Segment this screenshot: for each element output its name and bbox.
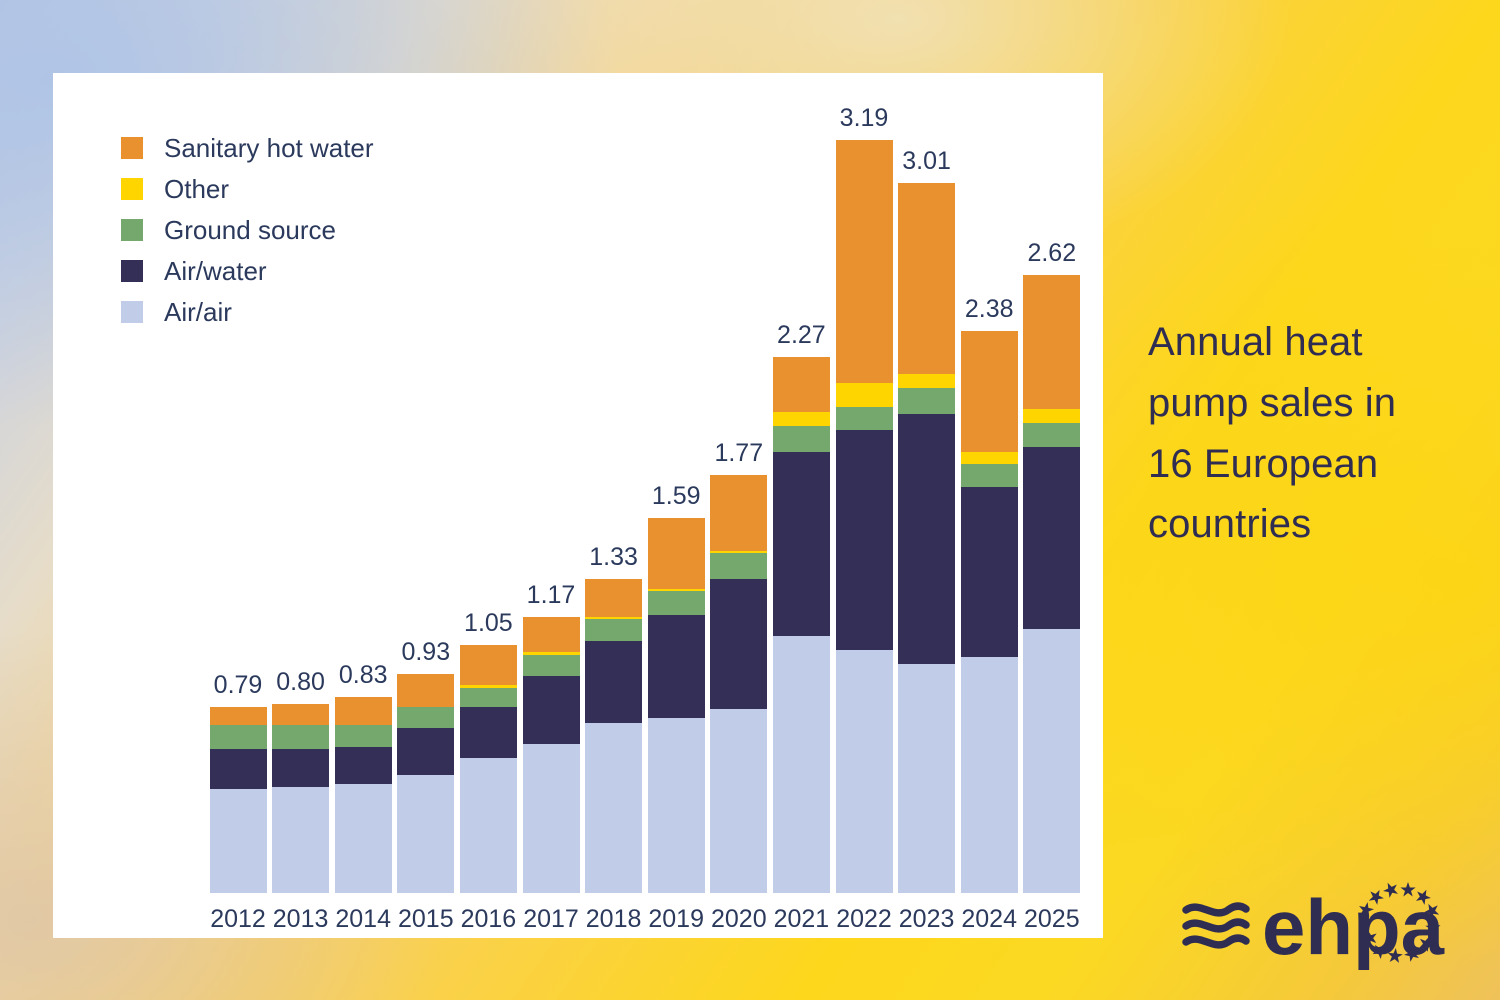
- legend-item-label: Air/water: [164, 258, 267, 284]
- x-axis-tick-2016: 2016: [461, 905, 517, 934]
- chart-card: 0.7920120.8020130.8320140.9320151.052016…: [53, 73, 1103, 938]
- bar-stack: [272, 704, 329, 893]
- bar-segment-air-air[interactable]: [585, 723, 642, 893]
- bar-stack: [710, 475, 767, 893]
- bar-column-2012[interactable]: 0.792012: [210, 707, 267, 893]
- legend-swatch-icon: [121, 301, 143, 323]
- bar-segment-ground-source[interactable]: [1023, 423, 1080, 447]
- bar-segment-sanitary-hot-water[interactable]: [898, 183, 955, 374]
- bar-segment-ground-source[interactable]: [648, 591, 705, 615]
- bar-segment-other[interactable]: [1023, 409, 1080, 423]
- bar-total-label: 1.05: [464, 609, 513, 638]
- bar-column-2019[interactable]: 1.592019: [648, 518, 705, 893]
- bar-stack: [961, 331, 1018, 893]
- x-axis-tick-2017: 2017: [523, 905, 579, 934]
- bar-segment-air-air[interactable]: [898, 664, 955, 893]
- bar-segment-air-air[interactable]: [397, 775, 454, 893]
- bar-segment-other[interactable]: [961, 452, 1018, 464]
- bar-segment-sanitary-hot-water[interactable]: [773, 357, 830, 411]
- bar-stack: [397, 674, 454, 893]
- bar-segment-air-air[interactable]: [710, 709, 767, 893]
- bar-segment-sanitary-hot-water[interactable]: [836, 140, 893, 383]
- bar-segment-air-water[interactable]: [1023, 447, 1080, 629]
- x-axis-tick-2018: 2018: [586, 905, 642, 934]
- x-axis-tick-2022: 2022: [836, 905, 892, 934]
- bar-total-label: 1.77: [714, 439, 763, 468]
- bar-column-2018[interactable]: 1.332018: [585, 579, 642, 893]
- x-axis-tick-2020: 2020: [711, 905, 767, 934]
- bar-total-label: 0.93: [401, 638, 450, 667]
- bar-stack: [773, 357, 830, 893]
- bar-segment-air-air[interactable]: [210, 789, 267, 893]
- bar-column-2020[interactable]: 1.772020: [710, 475, 767, 893]
- legend-item-sanitary-hot-water[interactable]: Sanitary hot water: [121, 127, 374, 168]
- bar-segment-air-water[interactable]: [272, 749, 329, 787]
- bar-segment-ground-source[interactable]: [523, 655, 580, 676]
- bar-column-2014[interactable]: 0.832014: [335, 697, 392, 893]
- bar-segment-sanitary-hot-water[interactable]: [648, 518, 705, 589]
- legend-swatch-icon: [121, 178, 143, 200]
- bar-segment-ground-source[interactable]: [773, 426, 830, 452]
- bar-segment-air-water[interactable]: [397, 728, 454, 775]
- logo-wordmark: ehpa: [1262, 883, 1445, 971]
- bar-total-label: 3.01: [902, 147, 951, 176]
- bar-segment-air-air[interactable]: [648, 718, 705, 893]
- bar-segment-ground-source[interactable]: [836, 407, 893, 431]
- bar-total-label: 1.17: [527, 581, 576, 610]
- bar-total-label: 3.19: [840, 104, 889, 133]
- bar-column-2022[interactable]: 3.192022: [836, 140, 893, 893]
- bar-column-2023[interactable]: 3.012023: [898, 183, 955, 893]
- bar-stack: [210, 707, 267, 893]
- bar-segment-air-air[interactable]: [272, 787, 329, 893]
- bar-column-2015[interactable]: 0.932015: [397, 674, 454, 893]
- x-axis-tick-2021: 2021: [774, 905, 830, 934]
- bar-stack: [335, 697, 392, 893]
- bar-segment-ground-source[interactable]: [961, 464, 1018, 488]
- chart-legend: Sanitary hot waterOtherGround sourceAir/…: [121, 127, 374, 332]
- bar-total-label: 2.38: [965, 295, 1014, 324]
- bar-column-2024[interactable]: 2.382024: [961, 331, 1018, 893]
- bar-total-label: 2.62: [1027, 239, 1076, 268]
- bar-segment-air-water[interactable]: [898, 414, 955, 664]
- bar-segment-sanitary-hot-water[interactable]: [272, 704, 329, 725]
- bar-segment-sanitary-hot-water[interactable]: [460, 645, 517, 685]
- bar-segment-air-air[interactable]: [773, 636, 830, 893]
- bar-total-label: 0.80: [276, 668, 325, 697]
- bar-segment-air-water[interactable]: [961, 487, 1018, 657]
- bar-segment-air-water[interactable]: [648, 615, 705, 719]
- bar-stack: [836, 140, 893, 893]
- bar-segment-air-air[interactable]: [335, 784, 392, 893]
- legend-item-label: Sanitary hot water: [164, 135, 374, 161]
- bar-segment-ground-source[interactable]: [335, 725, 392, 746]
- bar-column-2021[interactable]: 2.272021: [773, 357, 830, 893]
- bar-segment-sanitary-hot-water[interactable]: [397, 674, 454, 707]
- bar-segment-air-water[interactable]: [836, 430, 893, 649]
- bar-segment-air-air[interactable]: [961, 657, 1018, 893]
- bar-segment-air-water[interactable]: [585, 641, 642, 724]
- x-axis-tick-2013: 2013: [273, 905, 329, 934]
- x-axis-tick-2012: 2012: [210, 905, 266, 934]
- x-axis-tick-2014: 2014: [335, 905, 391, 934]
- bar-stack: [1023, 275, 1080, 893]
- x-axis-tick-2023: 2023: [899, 905, 955, 934]
- bar-segment-other[interactable]: [836, 383, 893, 407]
- bar-stack: [585, 579, 642, 893]
- bar-segment-air-water[interactable]: [710, 579, 767, 709]
- bar-stack: [460, 645, 517, 893]
- bar-column-2025[interactable]: 2.622025: [1023, 275, 1080, 893]
- legend-item-label: Air/air: [164, 299, 232, 325]
- legend-swatch-icon: [121, 137, 143, 159]
- x-axis-tick-2019: 2019: [648, 905, 704, 934]
- legend-swatch-icon: [121, 260, 143, 282]
- bar-segment-other[interactable]: [898, 374, 955, 388]
- legend-item-label: Ground source: [164, 217, 336, 243]
- x-axis-tick-2024: 2024: [961, 905, 1017, 934]
- bar-segment-ground-source[interactable]: [397, 707, 454, 728]
- bar-segment-air-water[interactable]: [210, 749, 267, 789]
- bar-segment-ground-source[interactable]: [585, 619, 642, 640]
- legend-item-air-air[interactable]: Air/air: [121, 291, 374, 332]
- bar-column-2017[interactable]: 1.172017: [523, 617, 580, 893]
- bar-total-label: 0.83: [339, 661, 388, 690]
- bar-segment-sanitary-hot-water[interactable]: [961, 331, 1018, 451]
- bar-total-label: 1.59: [652, 482, 701, 511]
- slide-canvas: 0.7920120.8020130.8320140.9320151.052016…: [0, 0, 1500, 1000]
- bar-segment-other[interactable]: [773, 412, 830, 426]
- legend-item-air-water[interactable]: Air/water: [121, 250, 374, 291]
- bar-segment-ground-source[interactable]: [898, 388, 955, 414]
- bar-segment-sanitary-hot-water[interactable]: [1023, 275, 1080, 410]
- bar-total-label: 0.79: [214, 671, 263, 700]
- bar-segment-air-air[interactable]: [1023, 629, 1080, 893]
- bar-segment-sanitary-hot-water[interactable]: [585, 579, 642, 617]
- bar-column-2013[interactable]: 0.802013: [272, 704, 329, 893]
- bar-total-label: 2.27: [777, 321, 826, 350]
- bar-stack: [898, 183, 955, 893]
- bar-segment-air-air[interactable]: [460, 758, 517, 893]
- x-axis-tick-2025: 2025: [1024, 905, 1080, 934]
- bar-segment-air-air[interactable]: [523, 744, 580, 893]
- bar-segment-sanitary-hot-water[interactable]: [710, 475, 767, 551]
- bar-segment-ground-source[interactable]: [210, 725, 267, 749]
- wave-icon: [1186, 906, 1246, 945]
- bar-stack: [523, 617, 580, 893]
- legend-item-label: Other: [164, 176, 229, 202]
- bar-segment-sanitary-hot-water[interactable]: [335, 697, 392, 725]
- bar-segment-ground-source[interactable]: [710, 553, 767, 579]
- bar-segment-air-water[interactable]: [335, 747, 392, 785]
- bar-total-label: 1.33: [589, 543, 638, 572]
- bar-stack: [648, 518, 705, 893]
- bar-segment-air-water[interactable]: [773, 452, 830, 636]
- bar-segment-air-water[interactable]: [460, 707, 517, 759]
- bar-column-2016[interactable]: 1.052016: [460, 645, 517, 893]
- legend-item-other[interactable]: Other: [121, 168, 374, 209]
- page-title: Annual heat pump sales in 16 European co…: [1148, 312, 1448, 555]
- bar-segment-sanitary-hot-water[interactable]: [523, 617, 580, 652]
- legend-item-ground-source[interactable]: Ground source: [121, 209, 374, 250]
- bar-segment-ground-source[interactable]: [460, 688, 517, 707]
- legend-swatch-icon: [121, 219, 143, 241]
- bar-segment-sanitary-hot-water[interactable]: [210, 707, 267, 726]
- bar-segment-air-water[interactable]: [523, 676, 580, 744]
- ehpa-logo: ehpa: [1180, 866, 1445, 974]
- bar-segment-air-air[interactable]: [836, 650, 893, 893]
- x-axis-tick-2015: 2015: [398, 905, 454, 934]
- bar-segment-ground-source[interactable]: [272, 725, 329, 749]
